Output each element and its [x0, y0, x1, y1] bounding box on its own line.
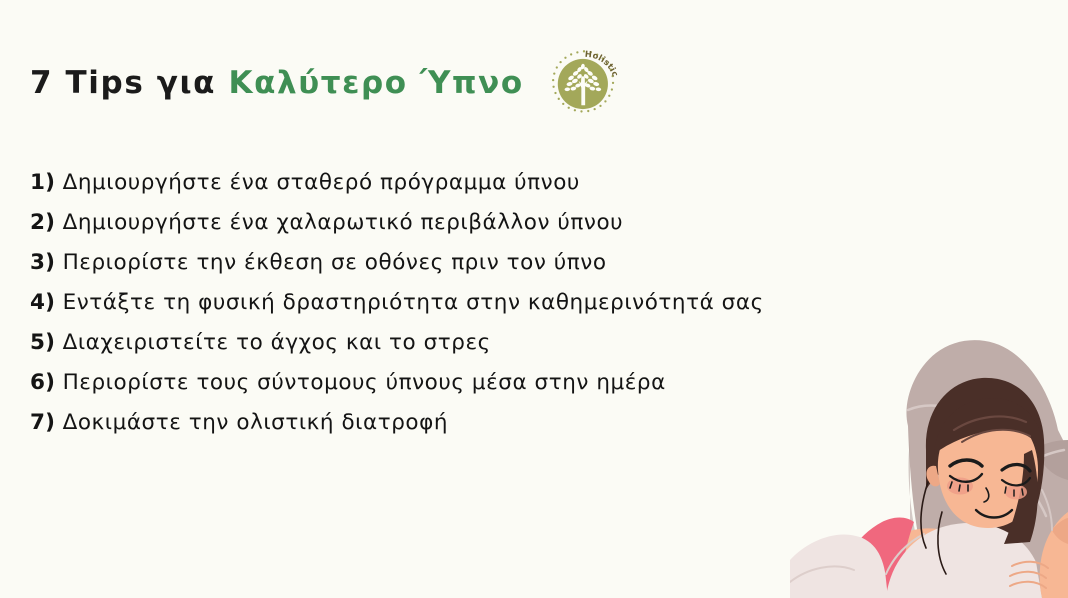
page-title: 7 Tips για Καλύτερο Ύπνο	[30, 68, 524, 99]
slide-header: 7 Tips για Καλύτερο Ύπνο	[30, 48, 622, 118]
list-item-number: 1)	[30, 170, 55, 195]
list-item: 7) Δοκιμάστε την ολιστική διατροφή	[30, 403, 1030, 443]
slide-canvas: 7 Tips για Καλύτερο Ύπνο	[0, 0, 1068, 598]
list-item-label: Εντάξτε τη φυσική δραστηριότητα στην καθ…	[63, 290, 764, 315]
tips-list: 1) Δημιουργήστε ένα σταθερό πρόγραμμα ύπ…	[30, 163, 1030, 443]
list-item-label: Δημιουργήστε ένα χαλαρωτικό περιβάλλον ύ…	[63, 210, 624, 235]
list-item-label: Διαχειριστείτε το άγχος και το στρες	[63, 330, 491, 355]
list-item: 5) Διαχειριστείτε το άγχος και το στρες	[30, 323, 1030, 363]
list-item: 4) Εντάξτε τη φυσική δραστηριότητα στην …	[30, 283, 1030, 323]
list-item: 2) Δημιουργήστε ένα χαλαρωτικό περιβάλλο…	[30, 203, 1030, 243]
page-title-plain: 7 Tips για	[30, 65, 228, 101]
list-item: 1) Δημιουργήστε ένα σταθερό πρόγραμμα ύπ…	[30, 163, 1030, 203]
holistic-nest-logo: Holistic nest	[546, 46, 622, 122]
list-item-number: 5)	[30, 330, 55, 355]
list-item: 3) Περιορίστε την έκθεση σε οθόνες πριν …	[30, 243, 1030, 283]
list-item-label: Δοκιμάστε την ολιστική διατροφή	[63, 410, 448, 435]
list-item-number: 2)	[30, 210, 55, 235]
list-item-label: Δημιουργήστε ένα σταθερό πρόγραμμα ύπνου	[63, 170, 580, 195]
list-item-number: 3)	[30, 250, 55, 275]
list-item-label: Περιορίστε την έκθεση σε οθόνες πριν τον…	[63, 250, 607, 275]
list-item-label: Περιορίστε τους σύντομους ύπνους μέσα στ…	[63, 370, 666, 395]
list-item: 6) Περιορίστε τους σύντομους ύπνους μέσα…	[30, 363, 1030, 403]
page-title-accent: Καλύτερο Ύπνο	[228, 65, 523, 101]
list-item-number: 7)	[30, 410, 55, 435]
list-item-number: 6)	[30, 370, 55, 395]
list-item-number: 4)	[30, 290, 55, 315]
